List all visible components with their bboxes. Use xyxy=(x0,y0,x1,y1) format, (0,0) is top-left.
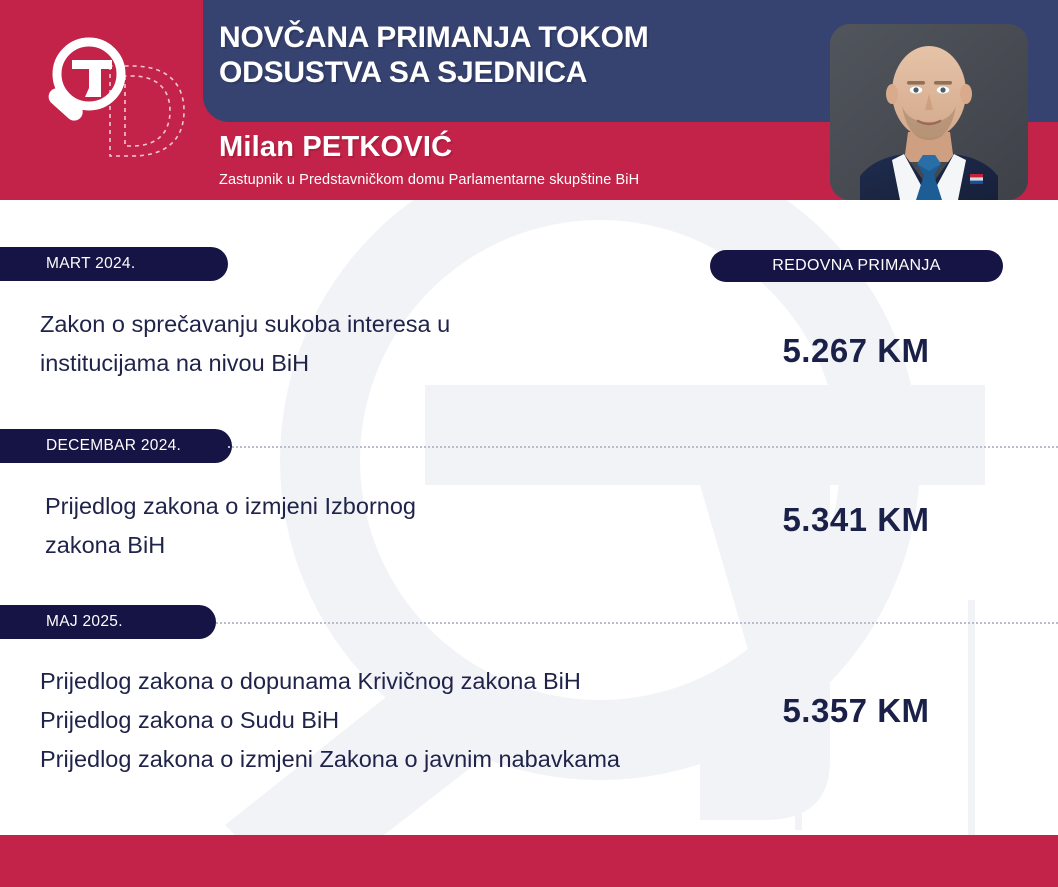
person-role: Zastupnik u Predstavničkom domu Parlamen… xyxy=(219,172,639,188)
entry-description-line: Prijedlog zakona o dopunama Krivičnog za… xyxy=(40,662,620,701)
entry-description: Prijedlog zakona o izmjeni Izbornog zako… xyxy=(45,487,416,565)
entry-description: Zakon o sprečavanju sukoba interesa u in… xyxy=(40,305,450,383)
date-badge: MAJ 2025. xyxy=(0,605,216,639)
entry-amount: 5.357 KM xyxy=(700,692,1012,730)
income-type-badge: REDOVNA PRIMANJA xyxy=(710,250,1003,282)
infographic-root: NOVČANA PRIMANJA TOKOM ODSUSTVA SA SJEDN… xyxy=(0,0,1058,887)
date-badge-label: MAJ 2025. xyxy=(0,613,149,631)
page-title: NOVČANA PRIMANJA TOKOM ODSUSTVA SA SJEDN… xyxy=(219,20,819,91)
footer-bar xyxy=(0,835,1058,887)
date-badge-label: MART 2024. xyxy=(0,255,161,273)
page-title-line-1: NOVČANA PRIMANJA TOKOM xyxy=(219,20,819,55)
date-badge: DECEMBAR 2024. xyxy=(0,429,232,463)
entry-amount: 5.267 KM xyxy=(700,332,1012,370)
date-badge: MART 2024. xyxy=(0,247,228,281)
row-divider xyxy=(216,622,1058,624)
entry-description: Prijedlog zakona o dopunama Krivičnog za… xyxy=(40,662,620,779)
entry-description-line: institucijama na nivou BiH xyxy=(40,344,450,383)
entry-description-line: Prijedlog zakona o izmjeni Izbornog xyxy=(45,487,416,526)
entry-description-line: zakona BiH xyxy=(45,526,416,565)
entry-description-line: Zakon o sprečavanju sukoba interesa u xyxy=(40,305,450,344)
magnifier-d-logo-icon xyxy=(32,28,192,178)
page-title-line-2: ODSUSTVA SA SJEDNICA xyxy=(219,55,819,90)
entry-description-line: Prijedlog zakona o izmjeni Zakona o javn… xyxy=(40,740,620,779)
date-badge-label: DECEMBAR 2024. xyxy=(0,437,207,455)
entry-amount: 5.341 KM xyxy=(700,501,1012,539)
row-divider xyxy=(228,446,1058,448)
portrait-photo xyxy=(830,24,1028,200)
page-header: NOVČANA PRIMANJA TOKOM ODSUSTVA SA SJEDN… xyxy=(0,0,1058,200)
rows-container: MART 2024. Zakon o sprečavanju sukoba in… xyxy=(0,200,1058,835)
entry-description-line: Prijedlog zakona o Sudu BiH xyxy=(40,701,620,740)
person-name: Milan PETKOVIĆ xyxy=(219,131,452,164)
